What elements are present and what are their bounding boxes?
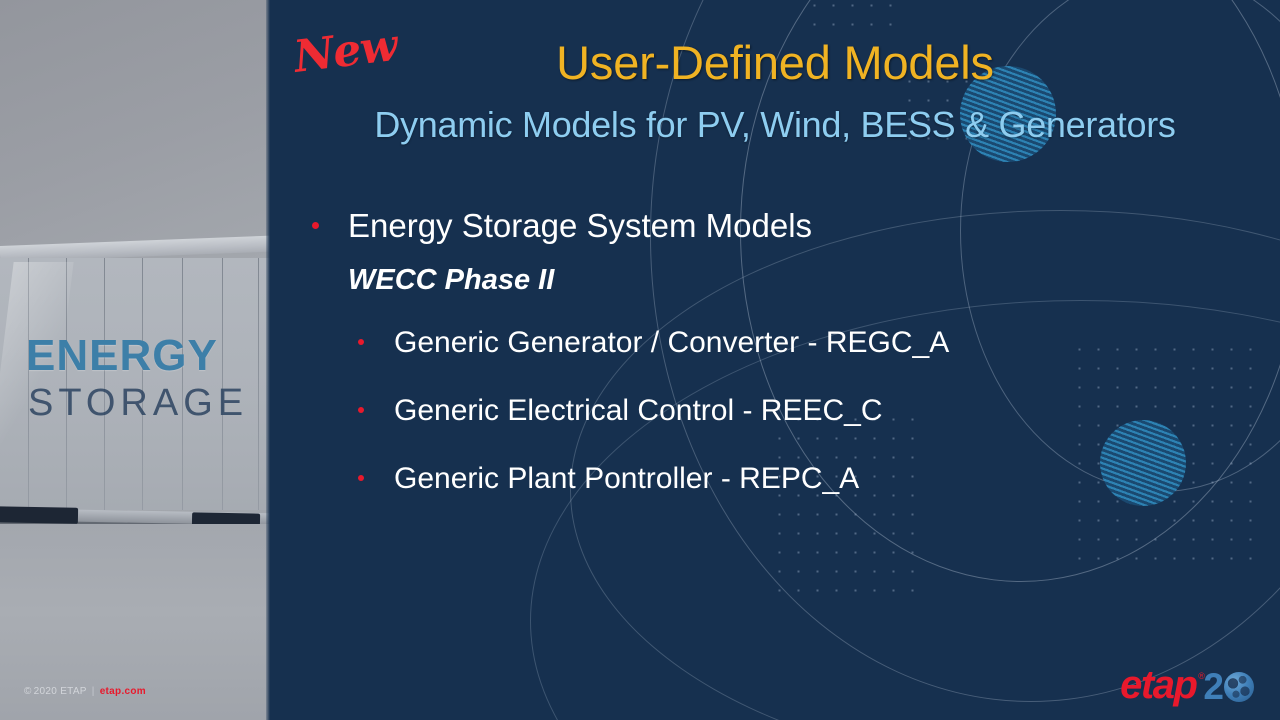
bullet-dot-icon (358, 339, 364, 345)
etap-logo: etap® 2 (1120, 666, 1254, 704)
anniversary-mark: 2 (1203, 669, 1254, 704)
sub-bullet-label: Generic Generator / Converter - REGC_A (394, 326, 949, 359)
sub-bullet-label: Generic Electrical Control - REEC_C (394, 394, 882, 427)
bullet-label: Energy Storage System Models (348, 207, 812, 244)
sub-bullet-item: Generic Electrical Control - REEC_C (348, 393, 1200, 429)
slide-body: Energy Storage System Models WECC Phase … (300, 205, 1200, 529)
decor-dot-grid-icon (805, 0, 900, 36)
footer-credit: ©2020 ETAP|etap.com (24, 686, 146, 697)
slide-canvas: ENERGY STORAGE ©2020 ETAP|etap.com New U… (0, 0, 1280, 720)
photo-caption-energy: ENERGY (26, 334, 256, 378)
footer-copyright-text: 2020 ETAP (34, 686, 87, 697)
sub-bullet-item: Generic Plant Pontroller - REPC_A (348, 461, 1200, 497)
copyright-icon: © (24, 686, 32, 697)
slide-subtitle: Dynamic Models for PV, Wind, BESS & Gene… (270, 105, 1280, 145)
slide-title: User-Defined Models (270, 38, 1280, 87)
bullet-dot-icon (312, 222, 319, 229)
globe-icon (1224, 672, 1254, 702)
bullet-item-main: Energy Storage System Models (300, 205, 1200, 246)
etap-wordmark: etap® (1120, 666, 1196, 704)
photo-wall (0, 0, 270, 258)
footer-separator: | (92, 686, 95, 697)
photo-container-foot (0, 506, 78, 524)
sub-bullet-item: Generic Generator / Converter - REGC_A (348, 325, 1200, 361)
energy-storage-photo: ENERGY STORAGE ©2020 ETAP|etap.com (0, 0, 270, 720)
anniversary-number: 2 (1203, 669, 1223, 704)
sub-bullet-label: Generic Plant Pontroller - REPC_A (394, 462, 859, 495)
photo-caption-storage: STORAGE (28, 384, 268, 422)
sub-bullet-list: Generic Generator / Converter - REGC_A G… (348, 325, 1200, 497)
etap-wordmark-text: etap (1120, 663, 1196, 707)
footer-website-link[interactable]: etap.com (100, 686, 146, 697)
bullet-dot-icon (358, 475, 364, 481)
wecc-phase-note: WECC Phase II (348, 264, 1200, 297)
bullet-dot-icon (358, 407, 364, 413)
